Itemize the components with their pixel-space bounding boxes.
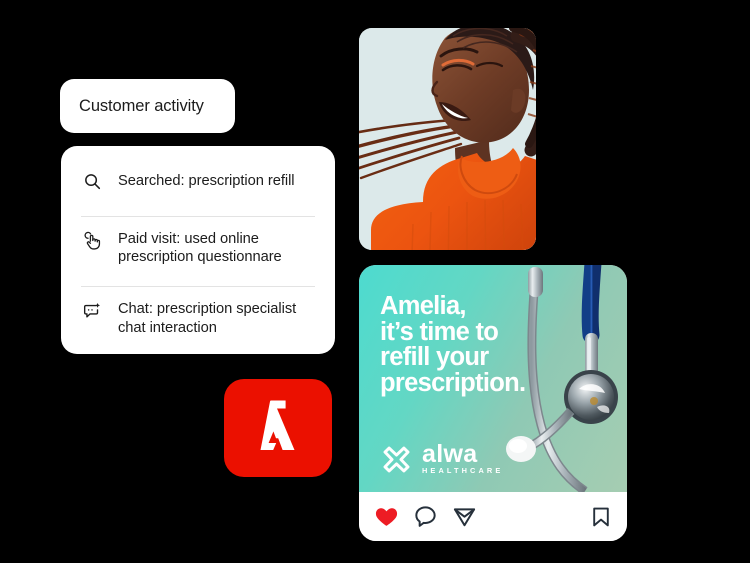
customer-activity-list-card: Searched: prescription refill Paid visit… <box>61 146 335 354</box>
brand-tagline: HEALTHCARE <box>422 466 503 476</box>
list-item-label: Chat: prescription specialist chat inter… <box>118 300 321 337</box>
list-item-label: Paid visit: used online prescription que… <box>118 230 321 267</box>
ad-headline: Amelia, it’s time to refill your prescri… <box>380 294 525 396</box>
page-title: Customer activity <box>79 97 204 116</box>
share-icon[interactable] <box>452 504 477 529</box>
adobe-logo-tile[interactable] <box>224 379 332 477</box>
promo-composition: Customer activity Searched: prescription… <box>0 0 750 563</box>
heart-icon[interactable] <box>374 504 399 529</box>
customer-portrait-card <box>359 28 536 250</box>
list-item[interactable]: Chat: prescription specialist chat inter… <box>79 287 321 357</box>
list-item-label: Searched: prescription refill <box>118 172 295 191</box>
adobe-logo-icon <box>247 398 309 458</box>
alwa-cross-logo-icon <box>380 443 413 476</box>
comment-icon[interactable] <box>413 504 438 529</box>
brand-lockup: alwa HEALTHCARE <box>380 443 503 476</box>
tap-hand-icon <box>79 230 105 252</box>
chat-sparkle-icon <box>79 300 105 322</box>
social-ad-card: Amelia, it’s time to refill your prescri… <box>359 265 627 541</box>
ad-creative-image: Amelia, it’s time to refill your prescri… <box>359 265 627 492</box>
customer-activity-title-card: Customer activity <box>60 79 235 133</box>
list-item[interactable]: Paid visit: used online prescription que… <box>79 217 321 287</box>
bookmark-icon[interactable] <box>589 505 613 529</box>
list-item[interactable]: Searched: prescription refill <box>79 146 321 216</box>
social-action-bar <box>359 492 627 541</box>
brand-name: alwa <box>422 443 503 465</box>
search-icon <box>79 171 105 191</box>
customer-portrait-photo <box>359 28 536 250</box>
